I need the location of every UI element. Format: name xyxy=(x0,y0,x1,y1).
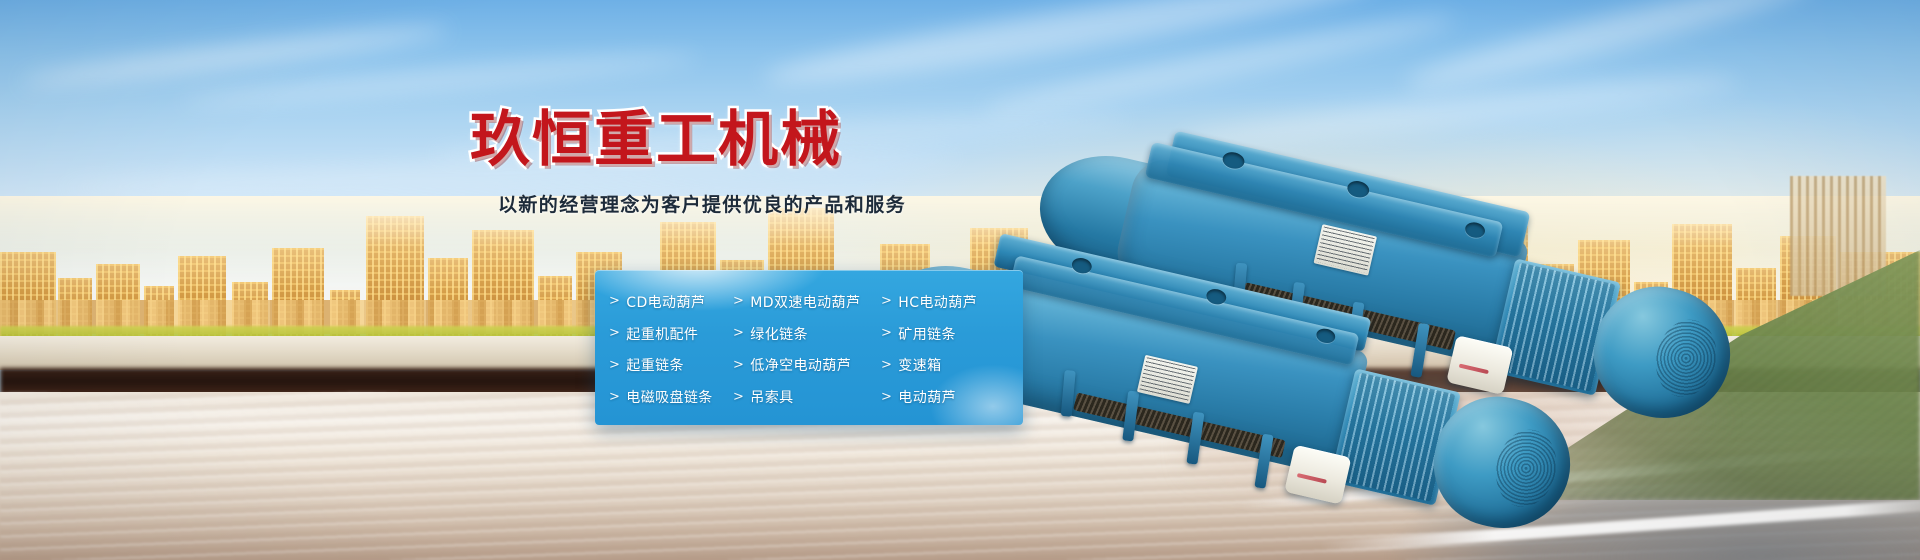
product-link-qi-zhong-ji-pei-jian[interactable]: > 起重机配件 xyxy=(609,324,733,344)
motion-blur-haze xyxy=(1180,330,1740,510)
product-link-label: 矿用链条 xyxy=(898,324,956,344)
product-link-md-shuang-su-dian-dong-hu-lu[interactable]: > MD双速电动葫芦 xyxy=(733,292,881,312)
product-link-label: 绿化链条 xyxy=(750,324,808,344)
product-category-grid: > CD电动葫芦 > MD双速电动葫芦 > HC电动葫芦 > 起重机配件 > 绿… xyxy=(595,270,1023,425)
chevron-right-icon: > xyxy=(881,389,892,404)
product-link-di-jing-kong-dian-dong-hu-lu[interactable]: > 低净空电动葫芦 xyxy=(733,355,881,375)
product-link-label: 起重链条 xyxy=(626,355,684,375)
product-link-label: 电磁吸盘链条 xyxy=(626,387,712,407)
banner-subtitle: 以新的经营理念为客户提供优良的产品和服务 xyxy=(498,190,1090,217)
product-link-kuang-yong-lian-tiao[interactable]: > 矿用链条 xyxy=(881,324,1009,344)
product-link-label: 低净空电动葫芦 xyxy=(750,355,851,375)
product-link-qi-zhong-lian-tiao[interactable]: > 起重链条 xyxy=(609,355,733,375)
product-category-panel: > CD电动葫芦 > MD双速电动葫芦 > HC电动葫芦 > 起重机配件 > 绿… xyxy=(595,270,1023,425)
product-link-label: CD电动葫芦 xyxy=(626,292,705,312)
chevron-right-icon: > xyxy=(609,389,620,404)
chevron-right-icon: > xyxy=(733,389,744,404)
product-link-label: MD双速电动葫芦 xyxy=(750,292,860,312)
chevron-right-icon: > xyxy=(881,326,892,341)
product-link-bian-su-xiang[interactable]: > 变速箱 xyxy=(881,355,1009,375)
product-link-label: 电动葫芦 xyxy=(898,387,956,407)
chevron-right-icon: > xyxy=(733,357,744,372)
chevron-right-icon: > xyxy=(881,294,892,309)
chevron-right-icon: > xyxy=(733,294,744,309)
chevron-right-icon: > xyxy=(881,357,892,372)
chevron-right-icon: > xyxy=(609,357,620,372)
product-link-hc-dian-dong-hu-lu[interactable]: > HC电动葫芦 xyxy=(881,292,1009,312)
product-link-label: HC电动葫芦 xyxy=(898,292,977,312)
chevron-right-icon: > xyxy=(609,326,620,341)
banner-copy: 玖恒重工机械 以新的经营理念为客户提供优良的产品和服务 xyxy=(470,110,1090,217)
promo-banner: 玖恒重工机械 以新的经营理念为客户提供优良的产品和服务 > CD电动葫芦 > M… xyxy=(0,0,1920,560)
product-link-label: 吊索具 xyxy=(750,387,793,407)
chevron-right-icon: > xyxy=(609,294,620,309)
product-link-dian-ci-xi-pan-lian-tiao[interactable]: > 电磁吸盘链条 xyxy=(609,387,733,407)
product-link-label: 起重机配件 xyxy=(626,324,698,344)
banner-title: 玖恒重工机械 xyxy=(470,110,1090,170)
product-link-label: 变速箱 xyxy=(898,355,941,375)
product-link-dian-dong-hu-lu[interactable]: > 电动葫芦 xyxy=(881,387,1009,407)
chevron-right-icon: > xyxy=(733,326,744,341)
product-link-diao-suo-ju[interactable]: > 吊索具 xyxy=(733,387,881,407)
product-link-cd-dian-dong-hu-lu[interactable]: > CD电动葫芦 xyxy=(609,292,733,312)
product-link-lv-hua-lian-tiao[interactable]: > 绿化链条 xyxy=(733,324,881,344)
